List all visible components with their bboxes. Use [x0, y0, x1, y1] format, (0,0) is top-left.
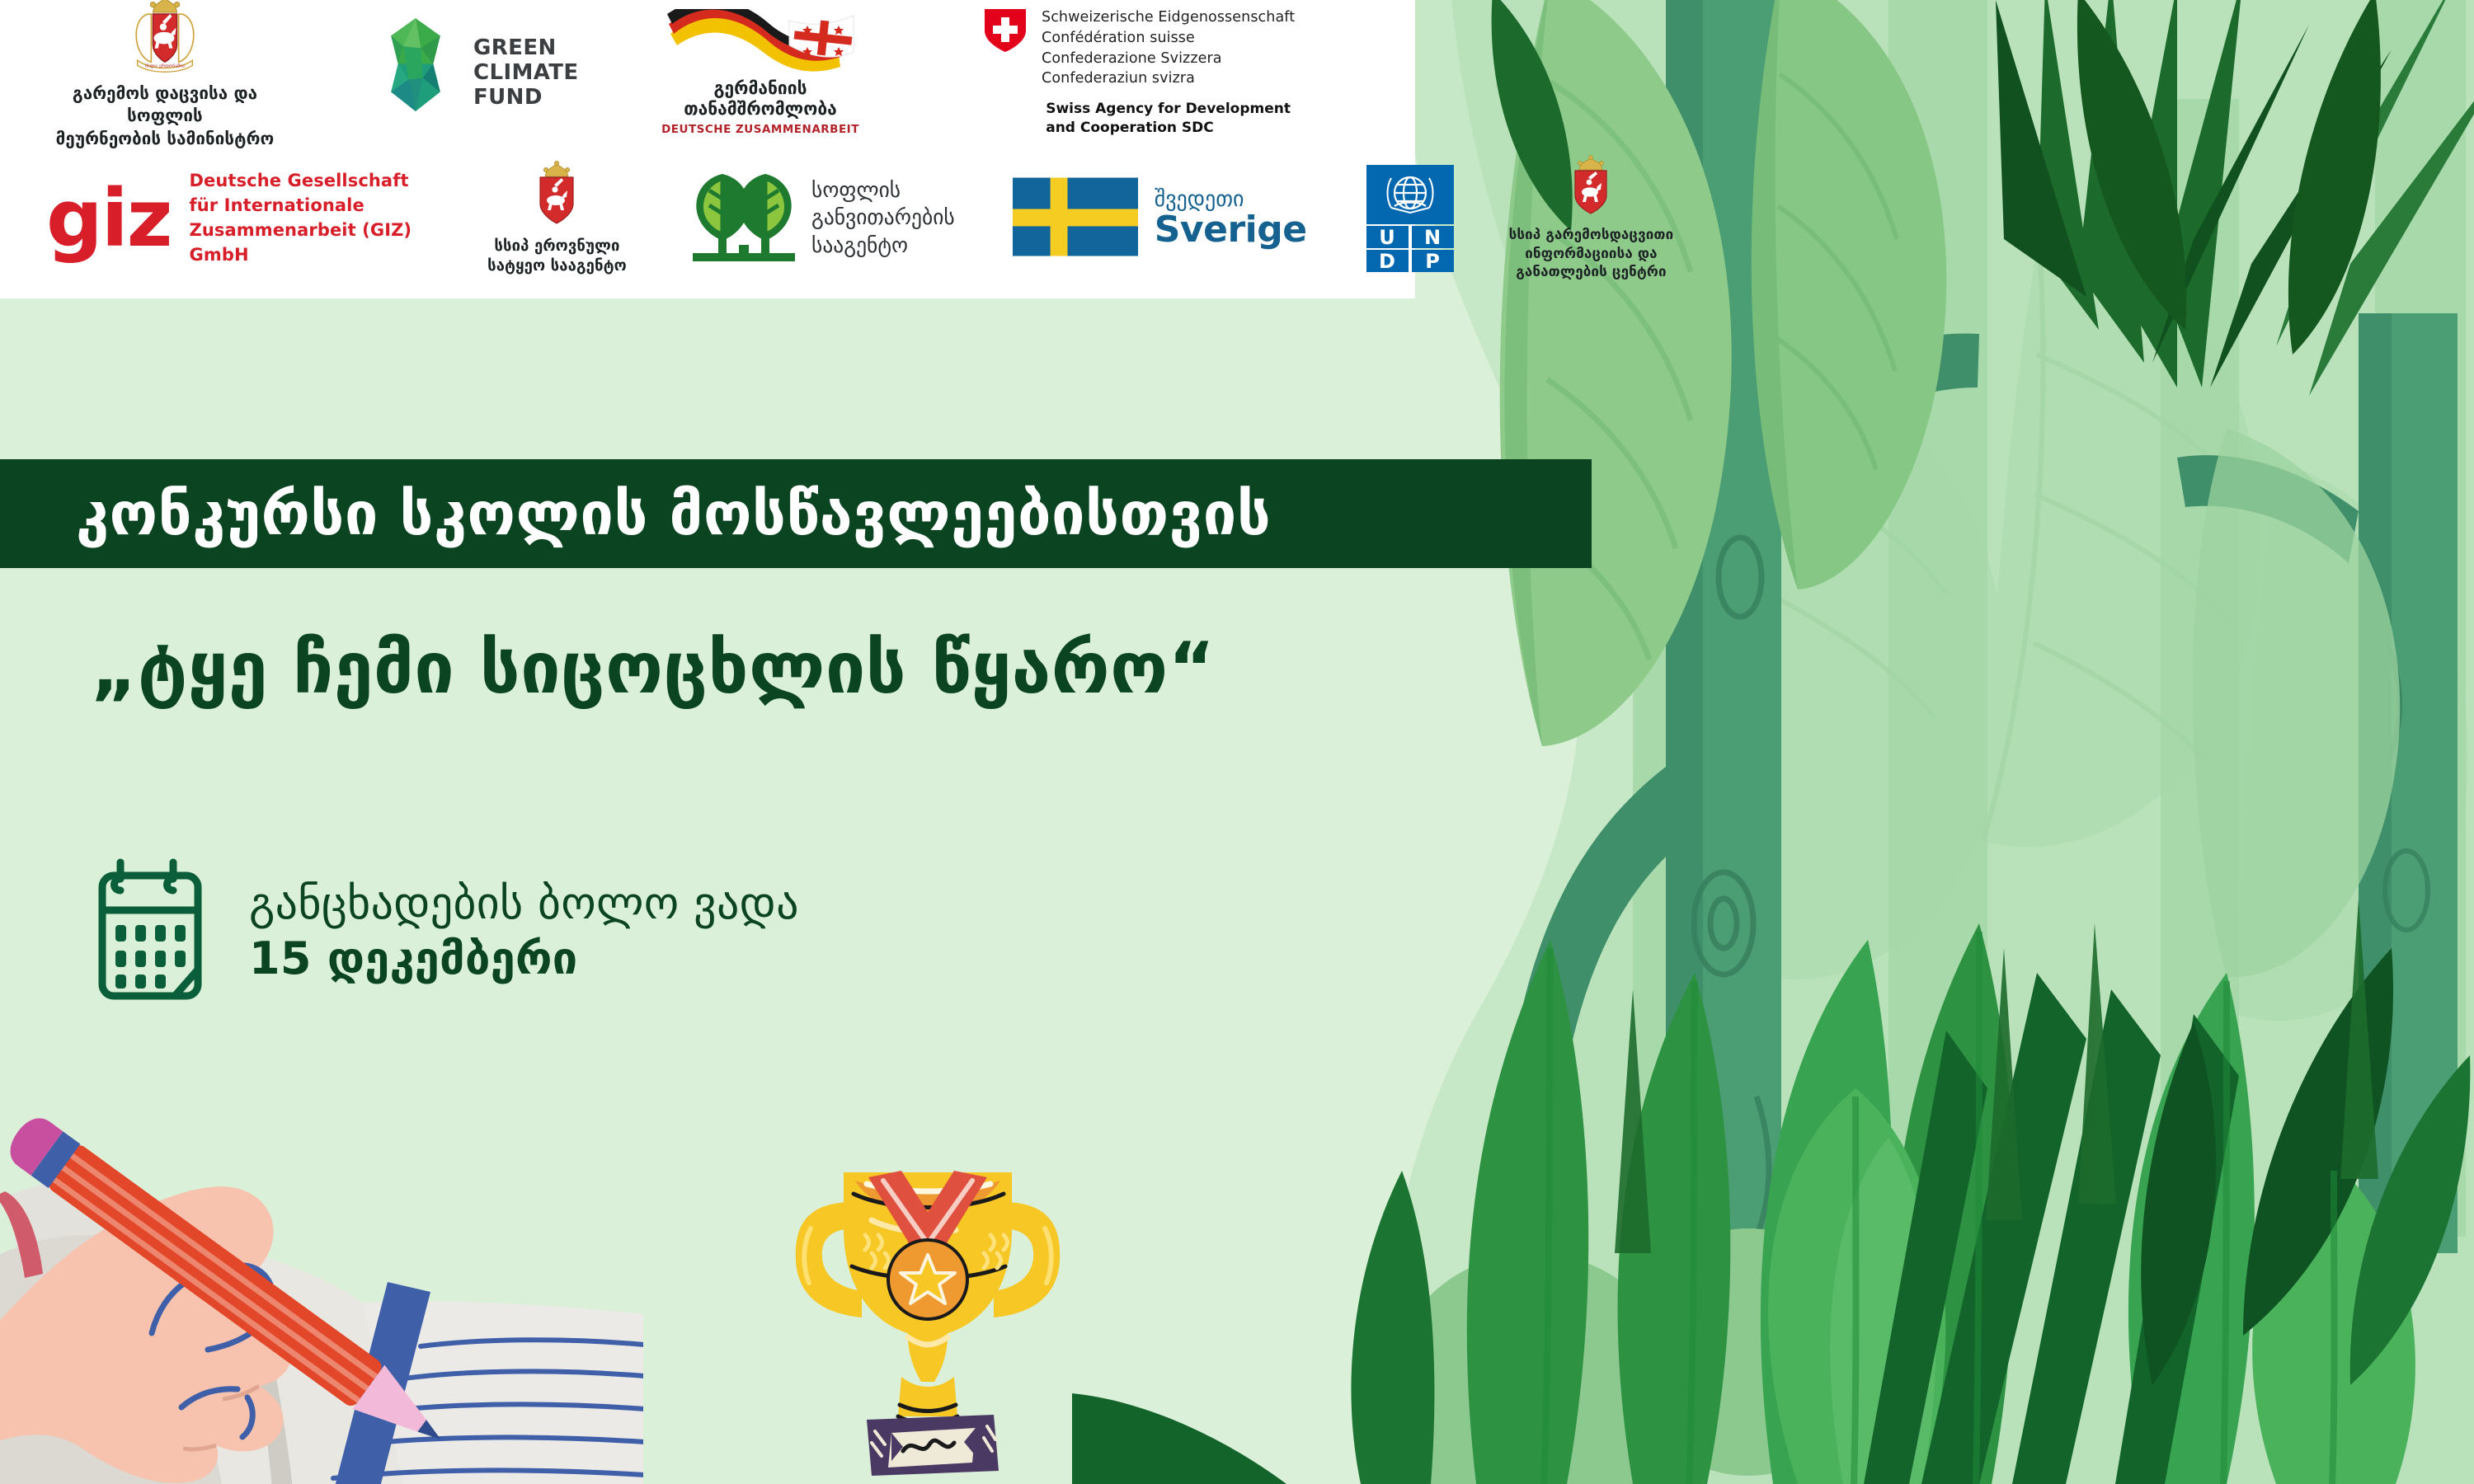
swiss-sdc-label: Swiss Agency for Development and Coopera… — [1046, 100, 1291, 138]
svg-text:ძალა ერთობაშია: ძალა ერთობაშია — [145, 63, 185, 69]
giz-logo-label: Deutsche Gesellschaft für Internationale… — [190, 169, 415, 267]
headline-banner: კონკურსი სკოლის მოსწავლეებისთვის — [0, 459, 1592, 568]
svg-text:P: P — [1425, 250, 1440, 272]
svg-text:U: U — [1379, 226, 1395, 249]
page-title: კონკურსი სკოლის მოსწავლეებისთვის — [76, 484, 1271, 543]
swiss-confederation-label: Schweizerische Eidgenossenschaft Confédé… — [1042, 7, 1295, 89]
rural-development-agency-logo: სოფლის განვითარების სააგენტო — [691, 171, 955, 266]
sverige-label-en: Sverige — [1155, 211, 1307, 249]
undp-logo: U N D P — [1366, 165, 1454, 272]
ministry-logo-label: გარემოს დაცვისა და სოფლის მეურნეობის სამ… — [41, 82, 289, 149]
ministry-of-environment-logo: ძალა ერთობაშია გარემოს დაცვისა და სოფლის… — [41, 0, 289, 150]
georgia-coat-of-arms-icon — [1568, 155, 1614, 221]
german-cooperation-label-ka: გერმანიის თანამშრომლობა — [684, 78, 837, 120]
calendar-icon — [92, 857, 214, 1005]
german-georgian-flag-ribbon-icon — [666, 9, 855, 82]
sweden-sverige-logo: შვედეთი Sverige — [1013, 177, 1307, 260]
logo-row-top: ძალა ერთობაშია გარემოს დაცვისა და სოფლის… — [41, 7, 1295, 139]
trophy-cup-illustration — [746, 1129, 1109, 1484]
logo-row-bottom: giz Deutsche Gesellschaft für Internatio… — [46, 161, 1679, 276]
georgia-coat-of-arms-icon — [532, 161, 581, 232]
swiss-confederation-logo: Schweizerische Eidgenossenschaft Confédé… — [983, 7, 1295, 138]
green-climate-fund-logo: GREEN CLIMATE FUND — [371, 16, 610, 129]
environmental-information-education-centre-logo: სსიპ გარემოსდაცვითი ინფორმაციისა და განა… — [1503, 155, 1680, 281]
deadline-block: განცხადების ბოლო ვადა 15 დეკემბერი — [92, 857, 799, 1005]
gcf-logo-label: GREEN CLIMATE FUND — [473, 35, 579, 110]
poster-root: ძალა ერთობაშია გარემოს დაცვისა და სოფლის… — [0, 0, 2474, 1484]
logo-panel: ძალა ერთობაშია გარემოს დაცვისა და სოფლის… — [0, 0, 1415, 298]
contest-theme-subtitle: „ტყე ჩემი სიცოცხლის წყარო“ — [91, 633, 1216, 704]
german-georgian-cooperation-logo: გერმანიის თანამშრომლობა DEUTSCHE ZUSAMME… — [645, 9, 876, 137]
nfa-logo-label: სსიპ ეროვნული სატყეო სააგენტო — [487, 237, 627, 277]
hand-writing-in-notebook-illustration — [0, 1026, 643, 1484]
svg-text:D: D — [1379, 250, 1395, 272]
svg-text:N: N — [1424, 226, 1441, 249]
eic-logo-label: სსიპ გარემოსდაცვითი ინფორმაციისა და განა… — [1509, 226, 1674, 281]
swiss-cross-shield-icon — [983, 7, 1028, 57]
deadline-date: 15 დეკემბერი — [249, 936, 799, 983]
giz-logo: giz Deutsche Gesellschaft für Internatio… — [46, 169, 415, 267]
rda-logo-label: სოფლის განვითარების სააგენტო — [811, 177, 955, 259]
sverige-label-ka: შვედეთი — [1155, 188, 1307, 212]
national-forestry-agency-logo: სსიპ ეროვნული სატყეო სააგენტო — [473, 161, 642, 277]
sweden-flag-icon — [1013, 177, 1138, 260]
deadline-label: განცხადების ბოლო ვადა — [249, 881, 799, 927]
georgia-coat-of-arms-icon: ძალა ერთობაშია — [122, 0, 208, 77]
gcf-gem-icon — [371, 16, 460, 129]
giz-wordmark: giz — [46, 187, 172, 251]
german-cooperation-label-de: DEUTSCHE ZUSAMMENARBEIT — [661, 123, 859, 136]
two-trees-house-icon — [691, 171, 797, 266]
